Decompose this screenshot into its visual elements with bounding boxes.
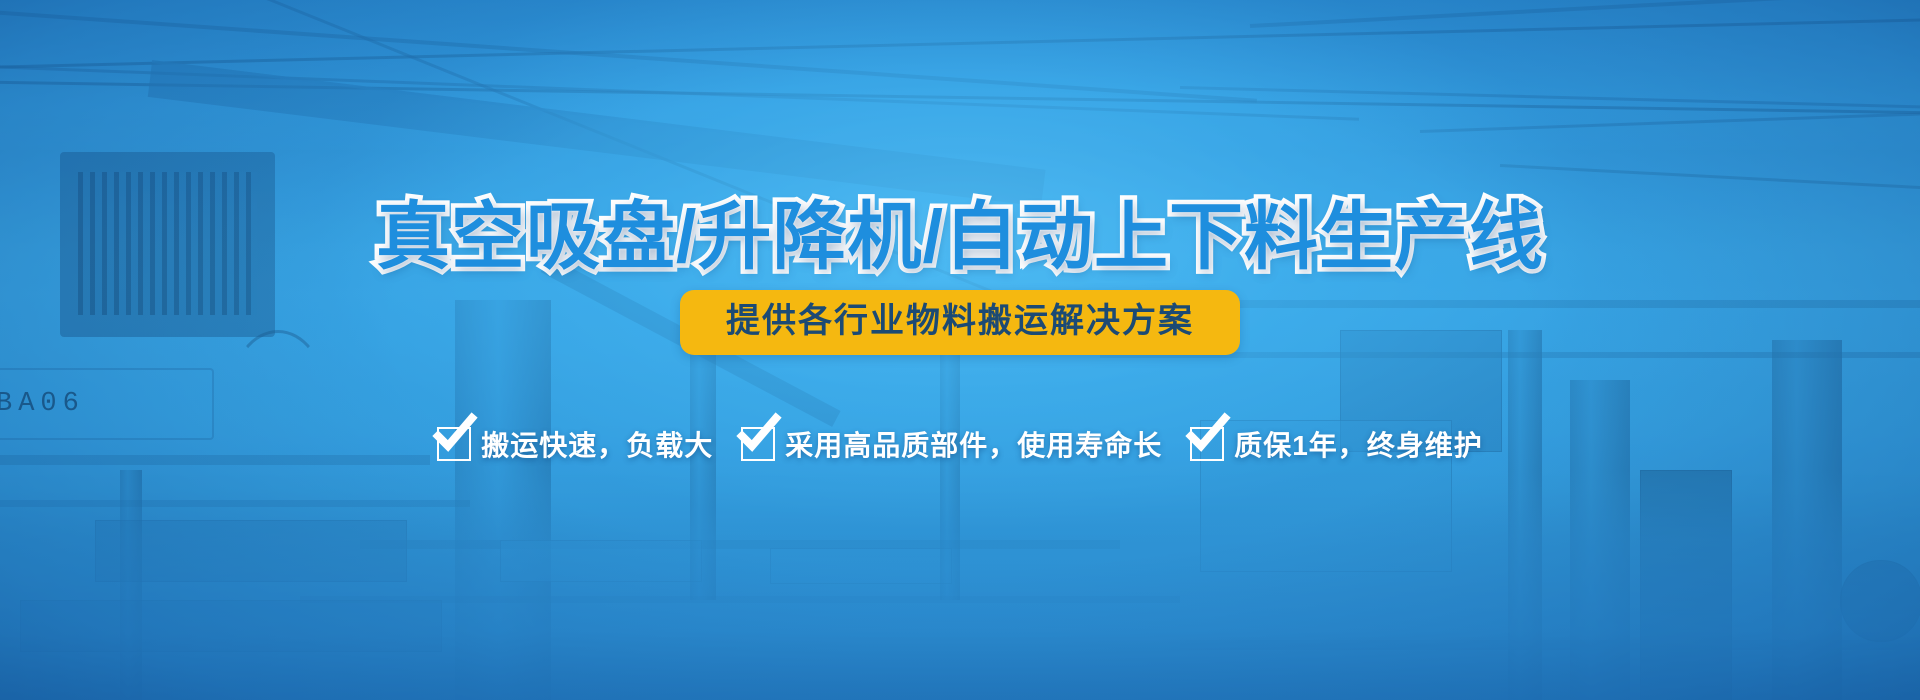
banner-subtitle-row: 提供各行业物料搬运解决方案 xyxy=(0,290,1920,355)
banner-feature-list: 搬运快速，负载大 采用高品质部件，使用寿命长 质保1年，终身维护 xyxy=(0,424,1920,464)
banner-headline: 真空吸盘/升降机/自动上下料生产线 xyxy=(0,200,1920,274)
feature-item: 质保1年，终身维护 xyxy=(1190,424,1483,464)
feature-item: 搬运快速，负载大 xyxy=(437,424,713,464)
checkbox-check-icon xyxy=(741,427,775,461)
feature-label: 搬运快速，负载大 xyxy=(481,424,713,464)
feature-label: 采用高品质部件，使用寿命长 xyxy=(785,424,1162,464)
checkbox-check-icon xyxy=(437,427,471,461)
promo-banner: BA06 真空吸盘/升降机/自动上下料生产线 提供各行业 xyxy=(0,0,1920,700)
checkbox-check-icon xyxy=(1190,427,1224,461)
feature-label: 质保1年，终身维护 xyxy=(1234,424,1483,464)
banner-content: 真空吸盘/升降机/自动上下料生产线 提供各行业物料搬运解决方案 搬运快速，负载大 xyxy=(0,0,1920,700)
feature-item: 采用高品质部件，使用寿命长 xyxy=(741,424,1162,464)
banner-subtitle-badge: 提供各行业物料搬运解决方案 xyxy=(680,290,1240,355)
